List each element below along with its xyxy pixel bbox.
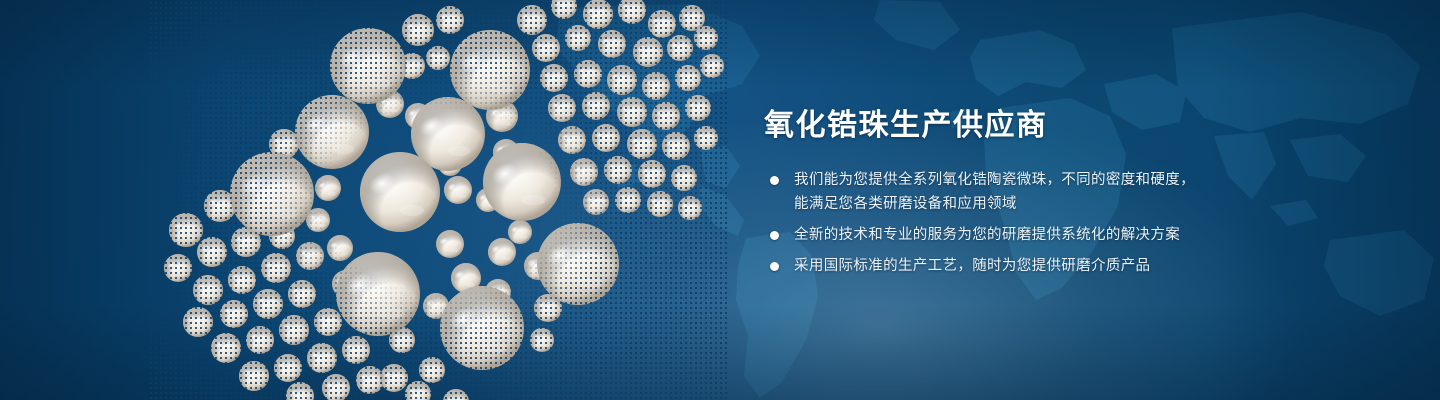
banner-copy: 氧化锆珠生产供应商 我们能为您提供全系列氧化锆陶瓷微珠，不同的密度和硬度， 能满… <box>764 106 1234 278</box>
bullet-dot-icon <box>770 231 779 240</box>
bullet-item-2-line-1: 全新的技术和专业的服务为您的研磨提供系统化的解决方案 <box>794 223 1234 247</box>
bullet-item-1-line-1: 我们能为您提供全系列氧化锆陶瓷微珠，不同的密度和硬度， <box>794 168 1234 192</box>
banner-bullet-list: 我们能为您提供全系列氧化锆陶瓷微珠，不同的密度和硬度， 能满足您各类研磨设备和应… <box>764 168 1234 278</box>
bullet-item-3-line-1: 采用国际标准的生产工艺，随时为您提供研磨介质产品 <box>794 254 1234 278</box>
banner-headline: 氧化锆珠生产供应商 <box>764 106 1234 146</box>
bullet-item-2: 全新的技术和专业的服务为您的研磨提供系统化的解决方案 <box>764 223 1234 247</box>
bullet-dot-icon <box>770 262 779 271</box>
bullet-item-1-line-2: 能满足您各类研磨设备和应用领域 <box>794 192 1234 216</box>
zirconia-bead-cluster-photo <box>150 0 730 400</box>
bullet-dot-icon <box>770 176 779 185</box>
bullet-item-1: 我们能为您提供全系列氧化锆陶瓷微珠，不同的密度和硬度， 能满足您各类研磨设备和应… <box>764 168 1234 216</box>
hero-banner: 氧化锆珠生产供应商 我们能为您提供全系列氧化锆陶瓷微珠，不同的密度和硬度， 能满… <box>0 0 1440 400</box>
bullet-item-3: 采用国际标准的生产工艺，随时为您提供研磨介质产品 <box>764 254 1234 278</box>
